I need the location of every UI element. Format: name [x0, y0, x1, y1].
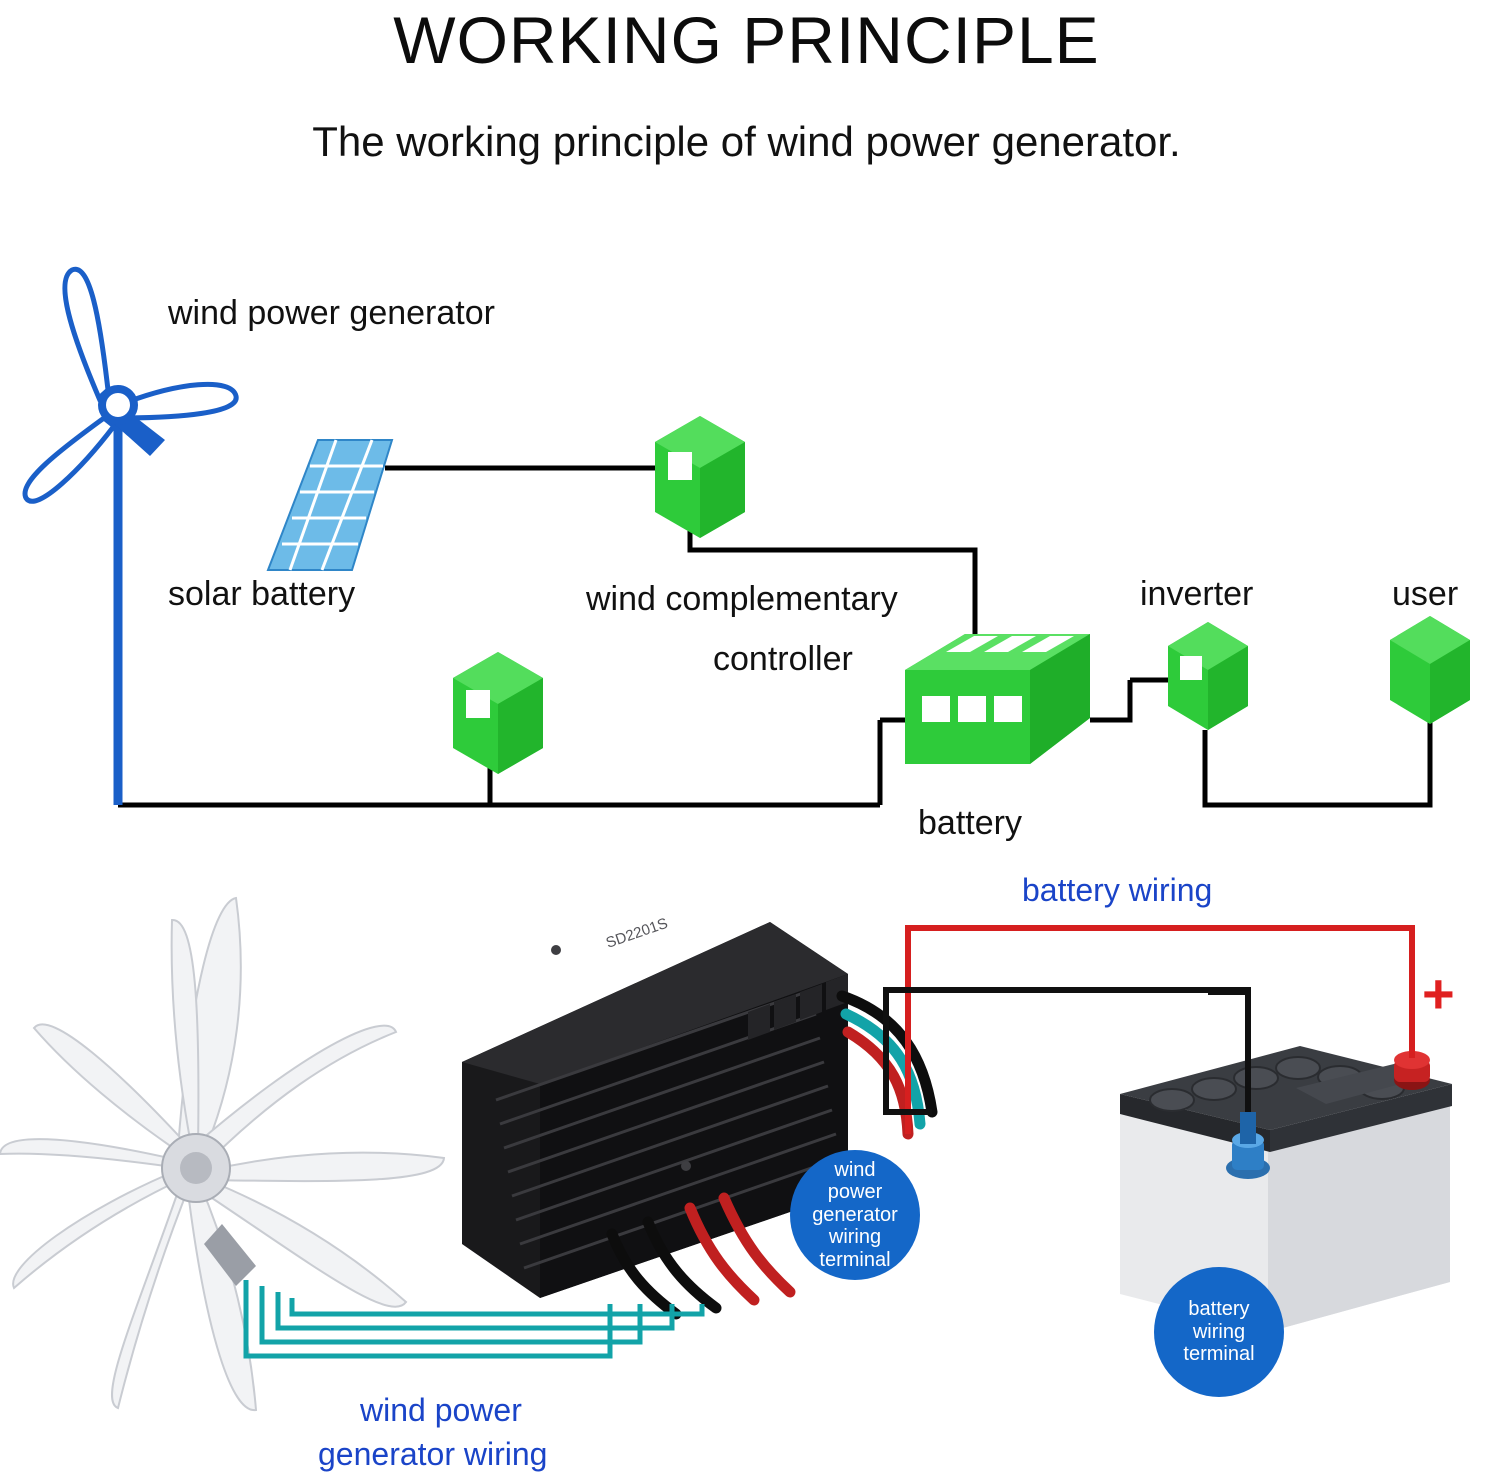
page-subtitle: The working principle of wind power gene…: [0, 118, 1493, 166]
generator-wiring-teal: [246, 1280, 702, 1356]
controller-box-icon: [655, 416, 745, 538]
left-green-box-icon: [453, 652, 543, 774]
inverter-box-icon: [1168, 622, 1248, 730]
label-solar-battery: solar battery: [168, 575, 355, 614]
label-battery-wiring: battery wiring: [1022, 872, 1212, 909]
label-battery: battery: [918, 804, 1022, 843]
turbine-blades-photo: [0, 898, 444, 1410]
battery-icon: [905, 634, 1090, 764]
callout-generator-terminal: windpowergeneratorwiringterminal: [790, 1150, 920, 1280]
callout-battery-terminal: batterywiringterminal: [1154, 1267, 1284, 1397]
label-wind-power-generator: wind power generator: [168, 294, 495, 333]
wiring-photo-composition: SD2201S: [0, 862, 1493, 1479]
positive-sign-mark: +: [1422, 966, 1455, 1022]
system-schematic: wind power generator solar battery wind …: [0, 250, 1493, 870]
label-controller-line2: controller: [713, 640, 853, 679]
user-box-icon: [1390, 616, 1470, 724]
label-generator-wiring-line2: generator wiring: [318, 1436, 547, 1473]
wind-turbine-icon: [25, 269, 236, 805]
label-inverter: inverter: [1140, 575, 1253, 614]
page-title: WORKING PRINCIPLE: [0, 2, 1493, 78]
label-user: user: [1392, 575, 1458, 614]
svg-text:SD2201S: SD2201S: [604, 915, 670, 952]
label-controller-line1: wind complementary: [586, 580, 898, 619]
callout-generator-terminal-text: windpowergeneratorwiringterminal: [804, 1159, 906, 1271]
negative-sign-mark: [1208, 988, 1248, 995]
solar-panel-icon: [252, 440, 392, 570]
poster-root: WORKING PRINCIPLE The working principle …: [0, 0, 1493, 1479]
label-generator-wiring-line1: wind power: [360, 1392, 522, 1429]
callout-battery-terminal-text: batterywiringterminal: [1175, 1298, 1262, 1365]
